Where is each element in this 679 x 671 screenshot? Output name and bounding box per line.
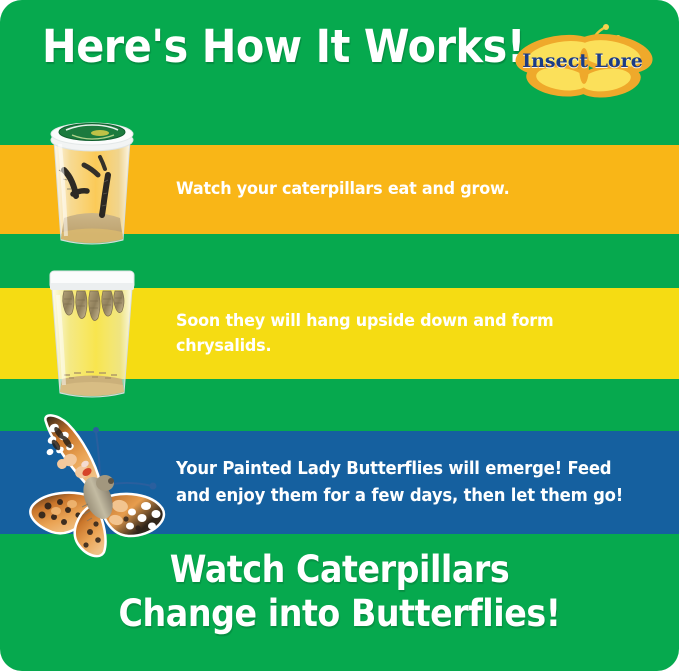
- insect-lore-logo: Insect Lore: [505, 22, 660, 102]
- painted-lady-butterfly-image: [12, 412, 172, 564]
- footer-line-2: Change into Butterflies!: [34, 592, 645, 636]
- step-3-text: Your Painted Lady Butterflies will emerg…: [176, 456, 637, 510]
- step-2-text: Soon they will hang upside down and form…: [176, 309, 599, 359]
- caterpillar-cup-image: [42, 112, 142, 247]
- chrysalis-cup-image: [42, 267, 142, 400]
- insect-lore-instruction-poster: Here's How It Works!: [0, 0, 679, 671]
- footer-line-1: Watch Caterpillars: [34, 548, 645, 592]
- logo-wordmark: Insect Lore: [505, 50, 660, 72]
- page-title: Here's How It Works!: [42, 22, 474, 72]
- poster-footer: Watch Caterpillars Change into Butterfli…: [0, 548, 679, 636]
- step-1-text: Watch your caterpillars eat and grow.: [176, 177, 618, 202]
